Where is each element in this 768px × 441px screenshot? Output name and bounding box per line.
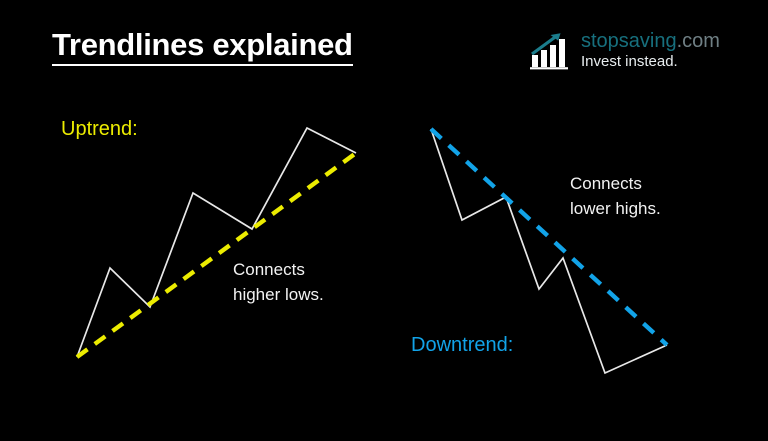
infographic-canvas: Trendlines explained stopsaving.com Inve…: [0, 0, 768, 441]
trendline-plots: [0, 0, 768, 441]
downtrend-chart: [431, 129, 667, 373]
uptrend-chart: [77, 128, 356, 357]
uptrend-price-path: [77, 128, 356, 357]
downtrend-price-path: [431, 129, 667, 373]
uptrend-trendline: [77, 153, 356, 357]
downtrend-trendline: [431, 129, 667, 345]
